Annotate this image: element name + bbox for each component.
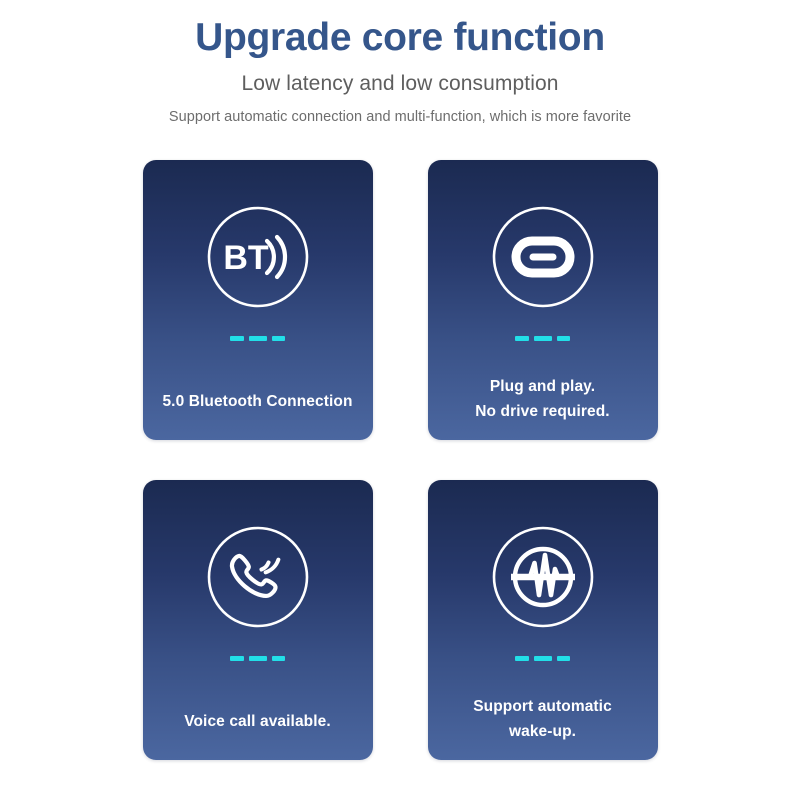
page-tagline: Support automatic connection and multi-f…	[0, 109, 800, 125]
accent-dash	[534, 336, 552, 341]
feature-card-plug-and-play[interactable]: Plug and play. No drive required.	[428, 160, 658, 440]
accent-dash	[534, 656, 552, 661]
accent-dash	[272, 336, 285, 341]
feature-card-label-line: Support automatic	[438, 694, 648, 719]
page-header: Upgrade core function Low latency and lo…	[0, 0, 800, 125]
accent-dash	[249, 336, 267, 341]
feature-card-bluetooth[interactable]: BT 5.0 Bluetooth Connection	[143, 160, 373, 440]
feature-card-grid: BT 5.0 Bluetooth Connection	[0, 160, 800, 760]
feature-card-auto-wake-up[interactable]: Support automatic wake-up.	[428, 480, 658, 760]
feature-card-label-line: Plug and play.	[438, 374, 648, 399]
promo-page: Upgrade core function Low latency and lo…	[0, 0, 800, 800]
feature-card-label-line: No drive required.	[438, 399, 648, 424]
page-title: Upgrade core function	[0, 16, 800, 60]
feature-card-label-line: Voice call available.	[153, 709, 363, 734]
accent-dash	[515, 656, 529, 661]
feature-card-label: Support automatic wake-up.	[428, 694, 658, 744]
feature-card-voice-call[interactable]: Voice call available.	[143, 480, 373, 760]
feature-card-label: 5.0 Bluetooth Connection	[143, 389, 373, 414]
bluetooth-bt-icon: BT	[203, 202, 313, 312]
feature-card-label-line: 5.0 Bluetooth Connection	[153, 389, 363, 414]
accent-dashes	[515, 656, 570, 661]
accent-dashes	[515, 336, 570, 341]
feature-card-label: Plug and play. No drive required.	[428, 374, 658, 424]
accent-dashes	[230, 336, 285, 341]
accent-dashes	[230, 656, 285, 661]
accent-dash	[230, 656, 244, 661]
chain-link-icon	[488, 202, 598, 312]
phone-call-icon	[203, 522, 313, 632]
accent-dash	[249, 656, 267, 661]
feature-card-label-line: wake-up.	[438, 719, 648, 744]
accent-dash	[557, 336, 570, 341]
accent-dash	[230, 336, 244, 341]
accent-dash	[557, 656, 570, 661]
feature-card-label: Voice call available.	[143, 709, 373, 734]
waveform-pulse-icon	[488, 522, 598, 632]
svg-text:BT: BT	[223, 239, 269, 277]
accent-dash	[515, 336, 529, 341]
page-subtitle: Low latency and low consumption	[0, 72, 800, 96]
accent-dash	[272, 656, 285, 661]
